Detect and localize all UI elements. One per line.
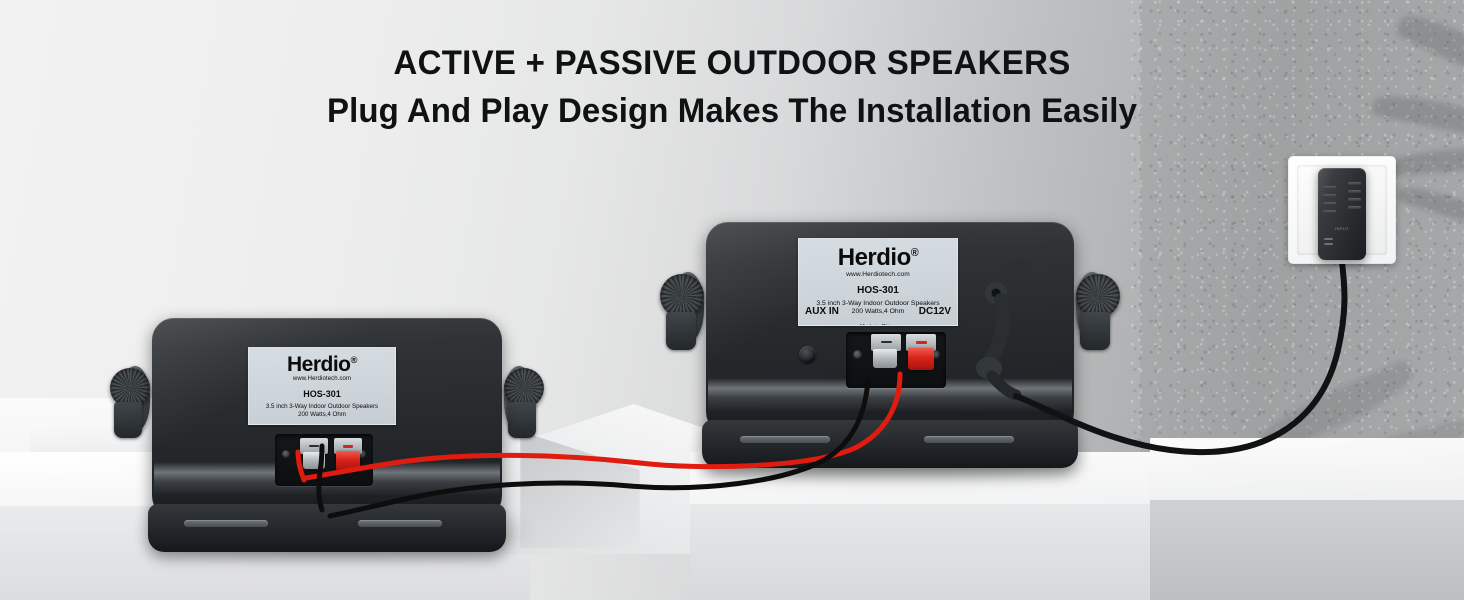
polarity-positive-icon: [916, 341, 927, 344]
speaker-active[interactable]: Herdio® www.Herdiotech.com HOS-301 3.5 i…: [706, 222, 1074, 434]
label-origin: Made in China: [799, 324, 957, 326]
brand-name: Herdio®: [287, 353, 357, 377]
speaker-base: [702, 420, 1078, 468]
polarity-negative-icon: [309, 445, 319, 447]
adapter-indicator-icon: [1324, 238, 1333, 240]
product-label: Herdio® www.Herdiotech.com HOS-301 3.5 i…: [798, 238, 958, 326]
brand-name: Herdio®: [838, 244, 918, 272]
product-label: Herdio® www.Herdiotech.com HOS-301 3.5 i…: [248, 347, 396, 425]
aux-input-jack[interactable]: [799, 346, 816, 363]
base-vent: [924, 436, 1014, 443]
polarity-negative-icon: [881, 341, 892, 343]
trademark-symbol: ®: [351, 355, 357, 366]
headline-secondary: Plug And Play Design Makes The Installat…: [22, 91, 1442, 132]
base-vent: [358, 520, 442, 527]
base-vent: [184, 520, 268, 527]
label-model: HOS-301: [249, 389, 395, 399]
label-aux-in: AUX IN: [805, 306, 839, 317]
speaker-passive[interactable]: Herdio® www.Herdiotech.com HOS-301 3.5 i…: [152, 318, 502, 518]
brand-text: Herdio: [287, 353, 351, 376]
screw-icon: [853, 350, 862, 359]
adapter-indicator-icon: [1324, 243, 1333, 245]
speaker-base: [148, 504, 506, 552]
base-vent: [740, 436, 830, 443]
screw-icon: [282, 450, 290, 458]
power-adapter[interactable]: INPUT: [1318, 168, 1366, 260]
label-model: HOS-301: [799, 285, 957, 296]
binding-post-positive[interactable]: [336, 451, 360, 471]
pedestal-far-right: [1150, 438, 1464, 600]
label-dc-in: DC12V: [919, 306, 951, 317]
trademark-symbol: ®: [911, 247, 918, 259]
label-spec-2: 200 Watts,4 Ohm: [249, 411, 395, 418]
binding-post-negative[interactable]: [303, 452, 325, 469]
headline-primary: ACTIVE + PASSIVE OUTDOOR SPEAKERS: [22, 44, 1442, 82]
adapter-marking: INPUT: [1318, 226, 1366, 231]
label-spec-1: 3.5 inch 3-Way Indoor Outdoor Speakers: [249, 403, 395, 410]
brand-text: Herdio: [838, 244, 911, 271]
binding-post-negative[interactable]: [873, 349, 897, 368]
label-website: www.Herdiotech.com: [799, 271, 957, 278]
product-scene: Herdio® www.Herdiotech.com HOS-301 3.5 i…: [0, 0, 1464, 600]
polarity-positive-icon: [343, 445, 353, 448]
headline-block: ACTIVE + PASSIVE OUTDOOR SPEAKERS Plug A…: [0, 44, 1464, 132]
binding-post-positive[interactable]: [908, 348, 934, 370]
